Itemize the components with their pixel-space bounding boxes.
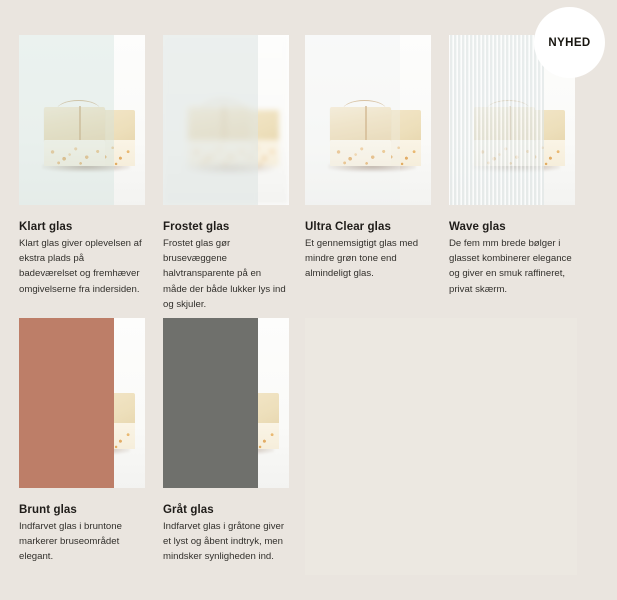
glass-overlay-ultra-clear (305, 35, 400, 205)
glass-card-klart-glas[interactable]: Klart glas Klart glas giver oplevelsen a… (19, 35, 145, 297)
glass-card-title: Gråt glas (163, 504, 289, 516)
glass-card-image-graat-glas (163, 318, 289, 488)
glass-card-description: Klart glas giver oplevelsen af ekstra pl… (19, 236, 143, 297)
nyhed-badge: NYHED (534, 7, 605, 78)
glass-overlay-grey (163, 318, 258, 488)
glass-card-title: Klart glas (19, 221, 145, 233)
glass-card-description: De fem mm brede bølger i glasset kombine… (449, 236, 573, 297)
glass-card-brunt-glas[interactable]: Brunt glas Indfarvet glas i bruntone mar… (19, 318, 145, 565)
glass-card-image-klart-glas (19, 35, 145, 205)
glass-card-image-brunt-glas (19, 318, 145, 488)
glass-type-grid: Klart glas Klart glas giver oplevelsen a… (0, 0, 617, 600)
glass-overlay-wave (449, 35, 544, 205)
glass-card-title: Frostet glas (163, 221, 289, 233)
glass-card-description: Indfarvet glas i bruntone markerer bruse… (19, 519, 143, 565)
glass-overlay-clear (19, 35, 114, 205)
glass-card-description: Et gennemsigtigt glas med mindre grøn to… (305, 236, 429, 282)
glass-card-description: Indfarvet glas i gråtone giver et lyst o… (163, 519, 287, 565)
glass-card-description: Frostet glas gør brusevæggene halvtransp… (163, 236, 287, 312)
glass-card-graat-glas[interactable]: Gråt glas Indfarvet glas i gråtone giver… (163, 318, 289, 565)
glass-card-title: Wave glas (449, 221, 575, 233)
glass-overlay-frosted (163, 35, 258, 205)
glass-card-title: Brunt glas (19, 504, 145, 516)
glass-card-image-ultra-clear-glas (305, 35, 431, 205)
glass-card-ultra-clear-glas[interactable]: Ultra Clear glas Et gennemsigtigt glas m… (305, 35, 431, 282)
glass-card-title: Ultra Clear glas (305, 221, 431, 233)
nyhed-badge-label: NYHED (548, 37, 590, 49)
glass-card-image-frostet-glas (163, 35, 289, 205)
glass-card-frostet-glas[interactable]: Frostet glas Frostet glas gør brusevægge… (163, 35, 289, 312)
glass-overlay-brown (19, 318, 114, 488)
